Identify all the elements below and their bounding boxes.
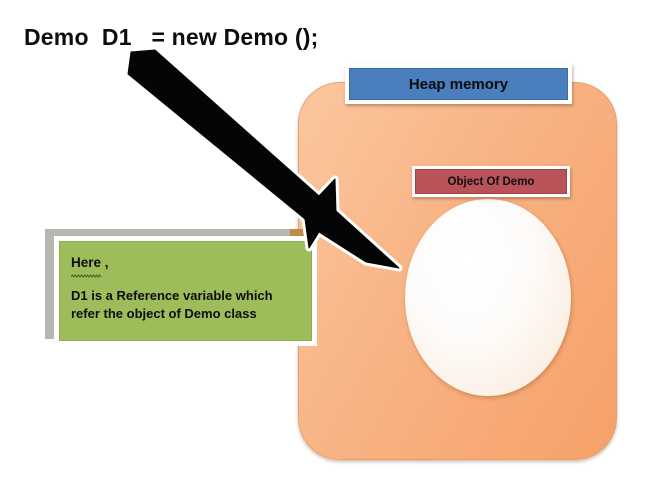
code-statement-text: Demo D1 = new Demo ();: [24, 24, 318, 51]
note-heading-word: Here: [71, 254, 101, 273]
note-line-1: D1 is a Reference variable which: [71, 287, 300, 305]
note-heading-comma: ,: [101, 255, 109, 270]
diagram-canvas: Demo D1 = new Demo (); Heap memory Objec…: [0, 0, 660, 488]
object-of-demo-label: Object Of Demo: [415, 169, 567, 194]
note-heading-text: Here: [71, 255, 101, 270]
heap-memory-label-box: Heap memory: [345, 64, 572, 104]
note-line-2: refer the object of Demo class: [71, 305, 300, 323]
note-heading-row: Here ,: [71, 254, 109, 273]
note-box: Here , D1 is a Reference variable which …: [54, 236, 317, 346]
heap-memory-label: Heap memory: [349, 68, 568, 100]
note-box-content: Here , D1 is a Reference variable which …: [59, 241, 312, 341]
spellcheck-squiggle-icon: [71, 274, 101, 278]
object-instance-ellipse: [405, 199, 571, 396]
object-of-demo-label-box: Object Of Demo: [412, 166, 570, 197]
